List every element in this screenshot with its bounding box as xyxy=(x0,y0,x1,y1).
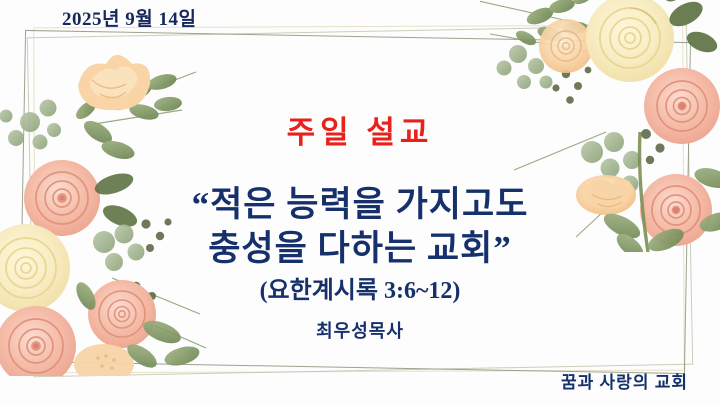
sermon-date: 2025년 9월 14일 xyxy=(62,4,196,31)
church-name: 꿈과 사랑의 교회 xyxy=(561,368,688,393)
sermon-slide: 2025년 9월 14일 주일 설교 “적은 능력을 가지고도 충성을 다하는 … xyxy=(0,0,720,405)
scripture-reference: (요한계시록 3:6~12) xyxy=(0,270,720,305)
sermon-label: 주일 설교 xyxy=(0,107,720,152)
preacher-name: 최우성목사 xyxy=(0,317,720,343)
sermon-title-line-2: 충성을 다하는 교회” xyxy=(0,220,720,271)
